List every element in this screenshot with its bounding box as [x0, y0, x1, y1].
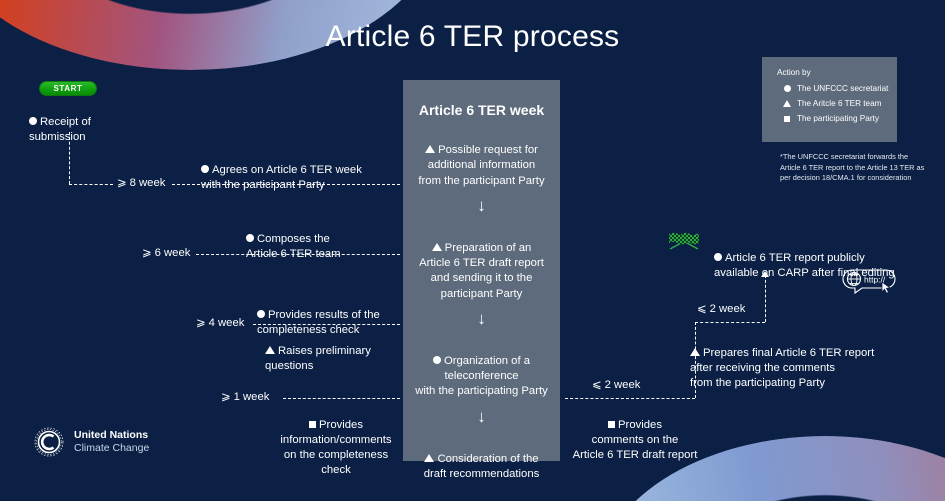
finish-flags-icon [664, 231, 704, 260]
square-marker-icon [608, 421, 615, 428]
circle-marker-icon [29, 117, 37, 125]
week-label-4: ⩾ 4 week [196, 316, 244, 329]
triangle-marker-icon [425, 145, 435, 153]
square-marker-icon [309, 421, 316, 428]
legend-item-label: The Aritcle 6 TER team [797, 99, 882, 108]
connector-horizontal-8week-left [69, 184, 113, 185]
center-step-label: Consideration of the draft recommendatio… [424, 453, 540, 480]
triangle-marker-icon [690, 348, 700, 356]
circle-marker-icon [201, 165, 209, 173]
week-label-right-upper: ⩽ 2 week [697, 302, 745, 315]
legend-item-label: The UNFCCC secretariat [797, 84, 888, 93]
connector-horizontal-right-2week-lower [565, 398, 695, 399]
node-label: Agrees on Article 6 TER week with the pa… [201, 164, 362, 191]
connector-vertical-right-upper [765, 275, 766, 322]
node-receipt-of-submission: Receipt of submission [29, 100, 169, 145]
down-arrow-icon-2: ↓ [403, 309, 560, 329]
http-globe-icon[interactable]: http:// [838, 267, 898, 300]
circle-marker-icon [246, 234, 254, 242]
center-panel-article6-ter-week: Article 6 TER week Possible request for … [403, 80, 560, 461]
triangle-marker-icon [432, 243, 442, 251]
center-step-preparation-draft-report: Preparation of an Article 6 TER draft re… [403, 226, 560, 302]
square-marker-icon [777, 116, 797, 122]
center-panel-title: Article 6 TER week [403, 102, 560, 118]
un-climate-change-logo: United Nations Climate Change [32, 425, 149, 459]
legend-item-participating-party: The participating Party [777, 114, 897, 123]
page-title: Article 6 TER process [0, 20, 945, 54]
center-step-teleconference: Organization of a teleconference with th… [403, 339, 560, 400]
legend-item-label: The participating Party [797, 114, 879, 123]
triangle-marker-icon [265, 346, 275, 354]
week-label-right-lower: ⩽ 2 week [592, 378, 640, 391]
node-label: Provides comments on the Article 6 TER d… [573, 419, 698, 461]
un-emblem-icon [32, 425, 66, 459]
circle-marker-icon [433, 356, 441, 364]
center-step-label: Possible request for additional informat… [418, 144, 544, 186]
triangle-marker-icon [424, 454, 434, 462]
node-label: Composes the Article 6 TER team [246, 233, 341, 260]
node-provides-comments-draft-report: Provides comments on the Article 6 TER d… [560, 403, 710, 463]
node-label: Provides information/comments on the com… [280, 419, 391, 476]
down-arrow-icon-1: ↓ [403, 196, 560, 216]
circle-marker-icon [257, 310, 265, 318]
node-prepares-final-report: Prepares final Article 6 TER report afte… [690, 331, 925, 391]
legend-item-secretariat: The UNFCCC secretariat [777, 84, 897, 93]
node-provides-information-comments: Provides information/comments on the com… [271, 403, 401, 478]
week-label-1: ⩾ 1 week [221, 390, 269, 403]
node-composes-ter-team: Composes the Article 6 TER team [246, 217, 411, 262]
week-label-8: ⩾ 8 week [117, 176, 165, 189]
connector-horizontal-right-2week-upper [695, 322, 765, 323]
node-label: Raises preliminary questions [265, 345, 371, 372]
circle-marker-icon [714, 253, 722, 261]
node-label: Prepares final Article 6 TER report afte… [690, 347, 874, 389]
legend-title: Action by [777, 68, 897, 77]
node-agrees-on-ter-week: Agrees on Article 6 TER week with the pa… [201, 148, 411, 193]
slide-canvas: Article 6 TER process START Receipt of s… [0, 0, 945, 501]
down-arrow-icon-3: ↓ [403, 407, 560, 427]
center-step-possible-request: Possible request for additional informat… [403, 128, 560, 189]
legend-box: Action by The UNFCCC secretariat The Ari… [762, 57, 897, 142]
circle-marker-icon [777, 85, 797, 92]
start-badge: START [39, 81, 97, 96]
logo-line-2: Climate Change [74, 442, 149, 455]
node-label: Receipt of submission [29, 116, 91, 143]
week-label-6: ⩾ 6 week [142, 246, 190, 259]
legend-item-ter-team: The Aritcle 6 TER team [777, 99, 897, 108]
legend-footnote: *The UNFCCC secretariat forwards the Art… [780, 152, 935, 184]
node-raises-preliminary-questions: Raises preliminary questions [265, 329, 412, 374]
center-step-consideration-recommendations: Consideration of the draft recommendatio… [403, 437, 560, 483]
logo-line-1: United Nations [74, 429, 149, 442]
triangle-marker-icon [777, 100, 797, 107]
connector-horizontal-1week [283, 398, 400, 399]
